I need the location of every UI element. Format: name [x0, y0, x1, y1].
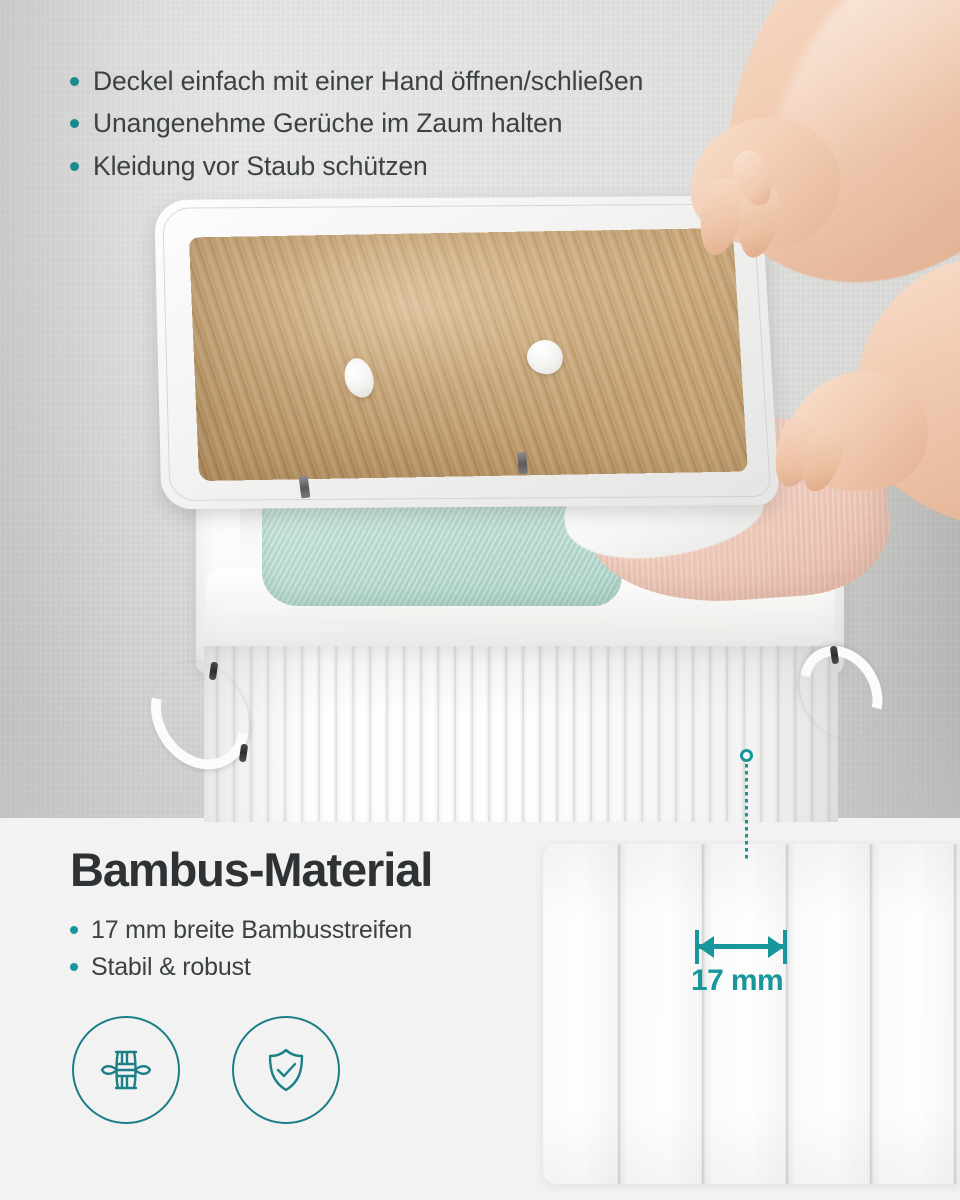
measurement-arrow [695, 930, 787, 964]
feature-bullet-label: Kleidung vor Staub schützen [93, 151, 428, 182]
material-info-section: Bambus-Material 17 mm breite Bambusstrei… [0, 818, 960, 1200]
callout-dotted-leader [745, 764, 748, 860]
material-icon-row [72, 1016, 340, 1124]
shield-check-icon [257, 1041, 315, 1099]
card-vignette [543, 844, 960, 1184]
lid-bamboo-slats [189, 228, 748, 481]
product-photo: Deckel einfach mit einer Hand öffnen/sch… [0, 0, 960, 822]
list-item: Stabil & robust [70, 952, 540, 982]
bamboo-closeup-card: 17 mm [543, 844, 960, 1184]
bullet-dot-icon [70, 162, 79, 171]
arrow-head-right-icon [768, 936, 784, 958]
section-heading: Bambus-Material [70, 846, 540, 895]
bamboo-icon-badge [72, 1016, 180, 1124]
measurement-label: 17 mm [691, 964, 783, 998]
bullet-dot-icon [70, 77, 79, 86]
lid-hinge-right [517, 452, 528, 475]
list-item: Kleidung vor Staub schützen [70, 151, 643, 182]
bullet-dot-icon [70, 926, 78, 934]
list-item: 17 mm breite Bambusstreifen [70, 915, 540, 945]
body-bamboo-slats [204, 646, 838, 822]
material-bullet-label: Stabil & robust [91, 952, 251, 982]
material-text-block: Bambus-Material 17 mm breite Bambusstrei… [70, 846, 540, 989]
hamper-lid [150, 191, 779, 511]
feature-bullet-label: Deckel einfach mit einer Hand öffnen/sch… [93, 66, 643, 97]
product-infographic: Deckel einfach mit einer Hand öffnen/sch… [0, 0, 960, 1200]
list-item: Unangenehme Gerüche im Zaum halten [70, 108, 643, 139]
arrow-head-left-icon [698, 936, 714, 958]
list-item: Deckel einfach mit einer Hand öffnen/sch… [70, 66, 643, 97]
material-bullet-label: 17 mm breite Bambusstreifen [91, 915, 412, 945]
lid-bamboo-highlight [189, 228, 748, 481]
body-slats-shading [204, 646, 838, 822]
bamboo-icon [96, 1040, 156, 1100]
bullet-dot-icon [70, 119, 79, 128]
feature-bullet-label: Unangenehme Gerüche im Zaum halten [93, 108, 562, 139]
callout-marker-icon [740, 749, 753, 762]
shield-check-icon-badge [232, 1016, 340, 1124]
feature-bullet-list: Deckel einfach mit einer Hand öffnen/sch… [70, 66, 643, 193]
bullet-dot-icon [70, 963, 78, 971]
